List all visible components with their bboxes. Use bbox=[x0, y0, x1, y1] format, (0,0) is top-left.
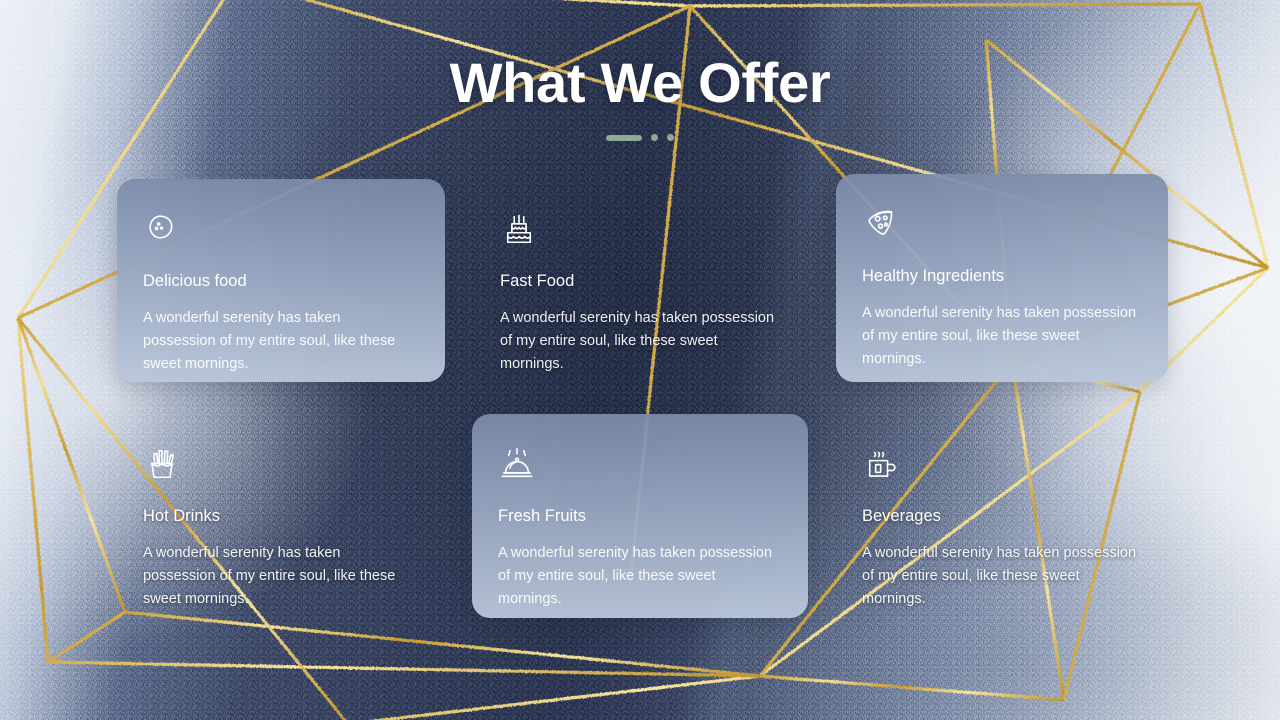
feature-body: A wonderful serenity has taken possessio… bbox=[862, 302, 1140, 371]
pagination-dot-2[interactable] bbox=[651, 134, 658, 141]
feature-body: A wonderful serenity has taken possessio… bbox=[498, 542, 778, 611]
feature-title: Fresh Fruits bbox=[498, 506, 780, 526]
feature-body: A wonderful serenity has taken possessio… bbox=[500, 307, 776, 376]
pizza-slice-icon bbox=[862, 204, 1140, 244]
feature-title: Hot Drinks bbox=[143, 506, 417, 526]
slide-pagination[interactable] bbox=[0, 134, 1280, 141]
feature-body: A wonderful serenity has taken possessio… bbox=[143, 307, 417, 376]
feature-card-fresh-fruits[interactable]: Fresh Fruits A wonderful serenity has ta… bbox=[472, 414, 808, 618]
pagination-active-bar[interactable] bbox=[606, 135, 642, 141]
feature-body: A wonderful serenity has taken possessio… bbox=[862, 542, 1140, 611]
feature-body: A wonderful serenity has taken possessio… bbox=[143, 542, 417, 611]
feature-title: Healthy Ingredients bbox=[862, 266, 1140, 286]
coffee-cup-icon bbox=[862, 444, 1140, 484]
pagination-dot-3[interactable] bbox=[667, 134, 674, 141]
feature-card-delicious-food[interactable]: Delicious food A wonderful serenity has … bbox=[117, 179, 445, 382]
cloche-icon bbox=[498, 444, 780, 484]
feature-card-healthy-ingredients[interactable]: Healthy Ingredients A wonderful serenity… bbox=[836, 174, 1168, 382]
french-fries-icon bbox=[143, 444, 417, 484]
feature-card-fast-food[interactable]: Fast Food A wonderful serenity has taken… bbox=[474, 179, 804, 382]
cake-icon bbox=[500, 209, 776, 249]
lemon-icon bbox=[143, 209, 417, 249]
feature-card-hot-drinks[interactable]: Hot Drinks A wonderful serenity has take… bbox=[117, 414, 445, 617]
headline-block: What We Offer bbox=[0, 46, 1280, 120]
feature-title: Delicious food bbox=[143, 271, 417, 291]
feature-title: Beverages bbox=[862, 506, 1140, 526]
page-title: What We Offer bbox=[0, 46, 1280, 120]
feature-card-beverages[interactable]: Beverages A wonderful serenity has taken… bbox=[836, 414, 1168, 617]
slide-canvas: What We Offer Delicious food A wonderful… bbox=[0, 0, 1280, 720]
feature-title: Fast Food bbox=[500, 271, 776, 291]
